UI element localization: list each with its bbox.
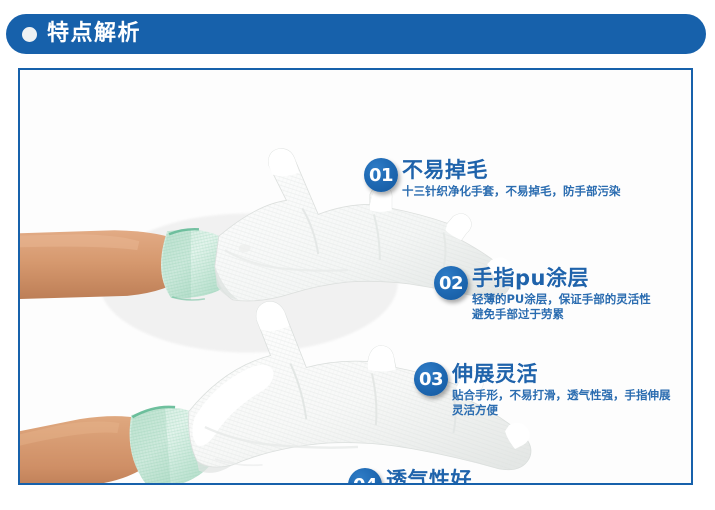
feature-title: 伸展灵活	[452, 363, 671, 385]
section-header-bar: 特点解析	[6, 14, 706, 54]
feature-description: 贴合手形，不易打滑，透气性强，手指伸展 灵活方便	[452, 388, 671, 417]
feature-title: 不易掉毛	[402, 159, 621, 181]
feature-number-badge: 02	[434, 266, 468, 300]
feature-text-group: 手指pu涂层 轻薄的PU涂层，保证手部的灵活性 避免手部过于劳累	[472, 266, 651, 321]
filled-circle-icon	[22, 27, 37, 42]
feature-item-02: 02 手指pu涂层 轻薄的PU涂层，保证手部的灵活性 避免手部过于劳累	[434, 266, 651, 321]
feature-title: 透气性好	[386, 469, 570, 485]
feature-number-badge: 04	[348, 468, 382, 485]
page-title: 特点解析	[47, 23, 141, 45]
feature-text-group: 伸展灵活 贴合手形，不易打滑，透气性强，手指伸展 灵活方便	[452, 362, 671, 417]
feature-item-03: 03 伸展灵活 贴合手形，不易打滑，透气性强，手指伸展 灵活方便	[414, 362, 671, 417]
feature-item-01: 01 不易掉毛 十三针织净化手套，不易掉毛，防手部污染	[364, 158, 621, 199]
feature-text-group: 不易掉毛 十三针织净化手套，不易掉毛，防手部污染	[402, 158, 621, 199]
feature-text-group: 透气性好 透气性非常好，吸汗干爽，穿戴舒适	[386, 468, 570, 485]
feature-item-04: 04 透气性好 透气性非常好，吸汗干爽，穿戴舒适	[348, 468, 570, 485]
feature-description: 轻薄的PU涂层，保证手部的灵活性 避免手部过于劳累	[472, 292, 651, 321]
feature-title: 手指pu涂层	[472, 267, 651, 289]
feature-content-frame: 01 不易掉毛 十三针织净化手套，不易掉毛，防手部污染 02 手指pu涂层 轻薄…	[18, 68, 693, 485]
feature-number-badge: 03	[414, 362, 448, 396]
feature-number-badge: 01	[364, 158, 398, 192]
feature-description: 十三针织净化手套，不易掉毛，防手部污染	[402, 184, 621, 199]
